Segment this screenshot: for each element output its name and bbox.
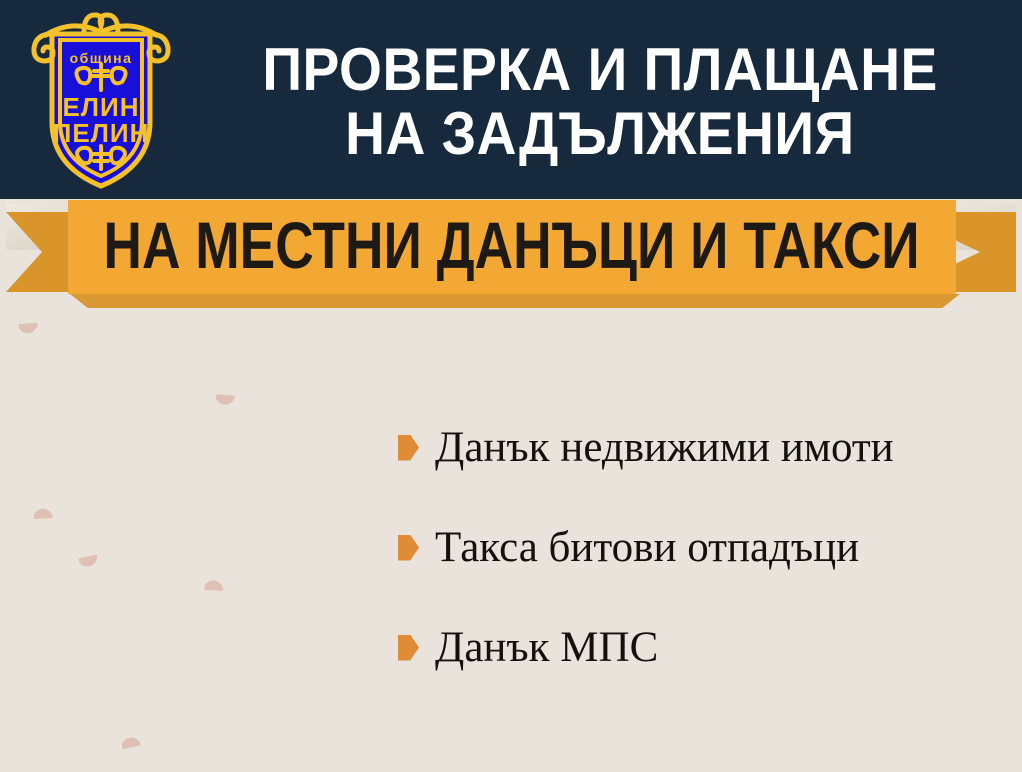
ribbon-shadow xyxy=(70,294,960,308)
subtitle-ribbon: НА МЕСТНИ ДАНЪЦИ И ТАКСИ xyxy=(0,198,1022,306)
poster-canvas: община ЕЛИН ПЕЛИН xyxy=(0,0,1022,772)
list-item-label: Такса битови отпадъци xyxy=(435,524,859,572)
list-item[interactable]: Такса битови отпадъци xyxy=(398,520,1012,575)
house-icon xyxy=(64,358,184,470)
car-front-icon xyxy=(129,572,264,692)
title-line-2: НА ЗАДЪЛЖЕНИЯ xyxy=(345,102,855,166)
list-item-label: Данък МПС xyxy=(435,624,658,672)
stamp-paper xyxy=(44,334,203,493)
poster-title: ПРОВЕРКА И ПЛАЩАНЕ НА ЗАДЪЛЖЕНИЯ xyxy=(190,18,1010,186)
tax-type-list: Данък недвижими имоти Такса битови отпад… xyxy=(398,420,1012,720)
coat-of-arms-icon: община ЕЛИН ПЕЛИН xyxy=(22,6,180,192)
svg-text:ПЕЛИН: ПЕЛИН xyxy=(53,118,150,148)
list-item[interactable]: Данък МПС xyxy=(398,620,1012,675)
stamp-group xyxy=(0,300,420,772)
list-item[interactable]: Данък недвижими имоти xyxy=(398,420,1012,475)
header-bar: община ЕЛИН ПЕЛИН xyxy=(0,0,1022,199)
arrow-bullet-icon xyxy=(398,435,419,461)
stamp-house xyxy=(19,309,230,520)
ribbon-label: НА МЕСТНИ ДАНЪЦИ И ТАКСИ xyxy=(104,214,920,280)
list-item-label: Данък недвижими имоти xyxy=(435,424,894,472)
arrow-bullet-icon xyxy=(398,535,419,561)
arrow-bullet-icon xyxy=(398,635,419,661)
title-line-1: ПРОВЕРКА И ПЛАЩАНЕ xyxy=(262,38,937,102)
ribbon-panel: НА МЕСТНИ ДАНЪЦИ И ТАКСИ xyxy=(68,200,956,294)
